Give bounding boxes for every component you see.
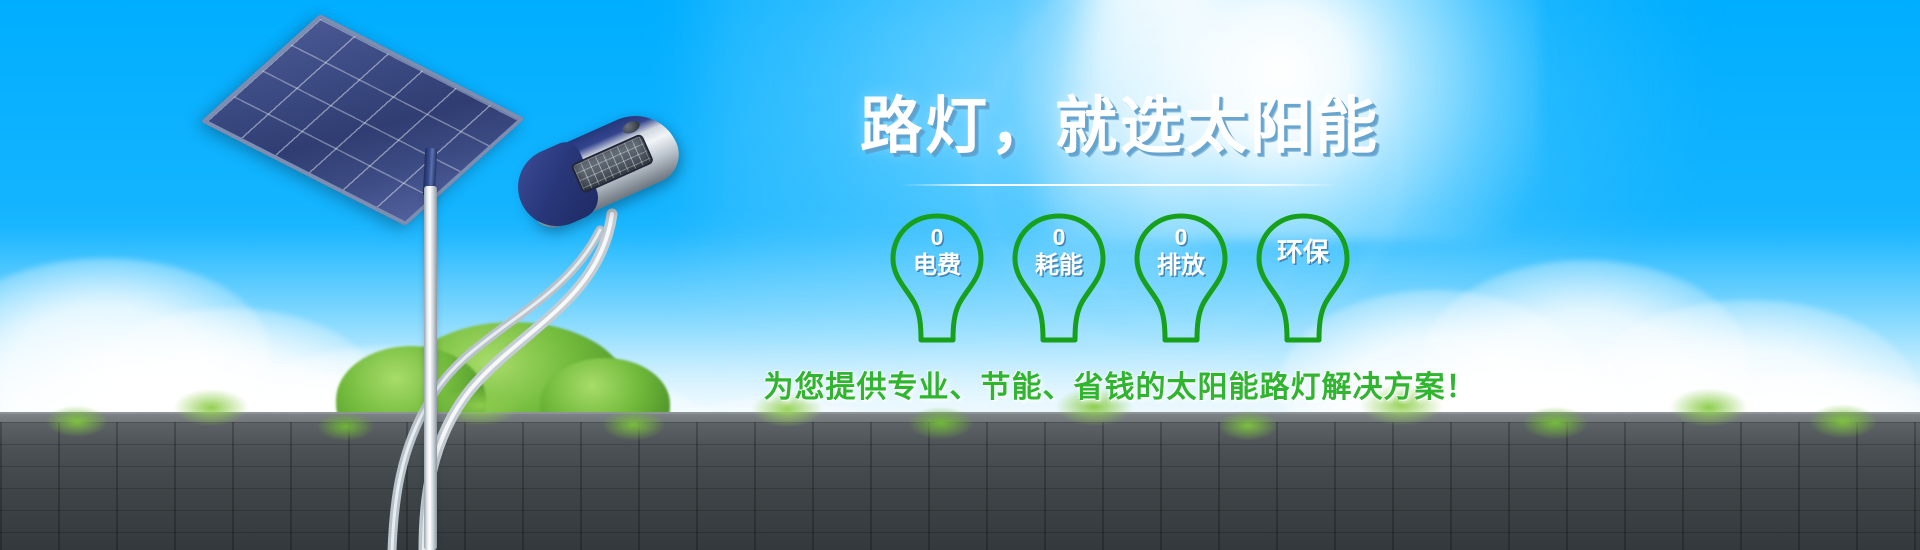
- benefit-bulb-2: 0 耗能: [1010, 212, 1108, 344]
- benefit-bulb-list: 0 电费 0 耗能 0 排放 环保: [760, 212, 1480, 344]
- benefit-label: 排放: [1157, 253, 1205, 278]
- tagline: 为您提供专业、节能、省钱的太阳能路灯解决方案！: [760, 362, 1480, 406]
- benefit-bulb-3: 0 排放: [1132, 212, 1230, 344]
- benefit-zero: 0: [931, 226, 944, 249]
- benefit-label: 环保: [1277, 238, 1329, 267]
- lamp-pole: [424, 186, 437, 550]
- benefit-label: 电费: [913, 253, 961, 278]
- hero-banner: 路灯，就选太阳能 0 电费 0 耗能 0: [0, 0, 1920, 550]
- benefit-bulb-1: 0 电费: [888, 212, 986, 344]
- benefit-label: 耗能: [1035, 253, 1083, 278]
- solar-street-light: [0, 0, 760, 550]
- benefit-zero: 0: [1175, 226, 1188, 249]
- headline-divider: [900, 184, 1340, 186]
- benefit-bulb-4: 环保: [1254, 212, 1352, 344]
- bulb-outline-icon: [1254, 212, 1352, 344]
- banner-copy: 路灯，就选太阳能 0 电费 0 耗能 0: [760, 96, 1480, 406]
- benefit-zero: 0: [1053, 226, 1066, 249]
- headline: 路灯，就选太阳能: [760, 96, 1480, 158]
